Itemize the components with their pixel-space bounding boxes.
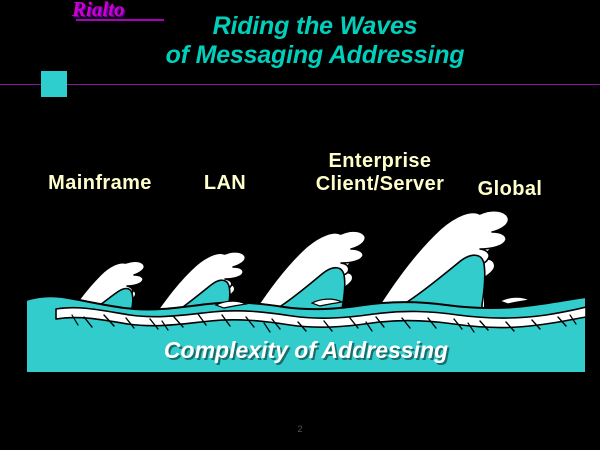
slide-canvas: Rialto Riding the Waves of Messaging Add… bbox=[0, 0, 600, 450]
stage-label-ecs-line1: Enterprise bbox=[270, 150, 490, 173]
slide-number: 2 bbox=[0, 424, 600, 435]
ocean-waves-illustration bbox=[26, 205, 586, 373]
stage-label-global: Global bbox=[420, 178, 600, 201]
waves-svg bbox=[26, 205, 586, 373]
header-divider-line bbox=[0, 84, 600, 85]
title-line-2: of Messaging Addressing bbox=[100, 41, 530, 70]
page-title: Riding the Waves of Messaging Addressing bbox=[100, 12, 530, 70]
title-line-1: Riding the Waves bbox=[100, 12, 530, 41]
header-accent-square bbox=[41, 71, 67, 97]
stage-label-global-line1: Global bbox=[420, 178, 600, 201]
